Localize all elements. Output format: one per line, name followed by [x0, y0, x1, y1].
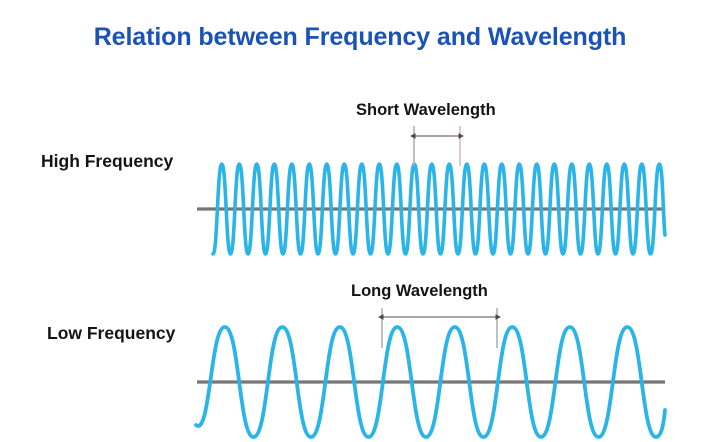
low-frequency-wave-group — [196, 308, 665, 437]
wave-graphics — [0, 0, 720, 442]
diagram-canvas: Relation between Frequency and Wavelengt… — [0, 0, 720, 442]
high-frequency-wave-group — [197, 126, 665, 254]
